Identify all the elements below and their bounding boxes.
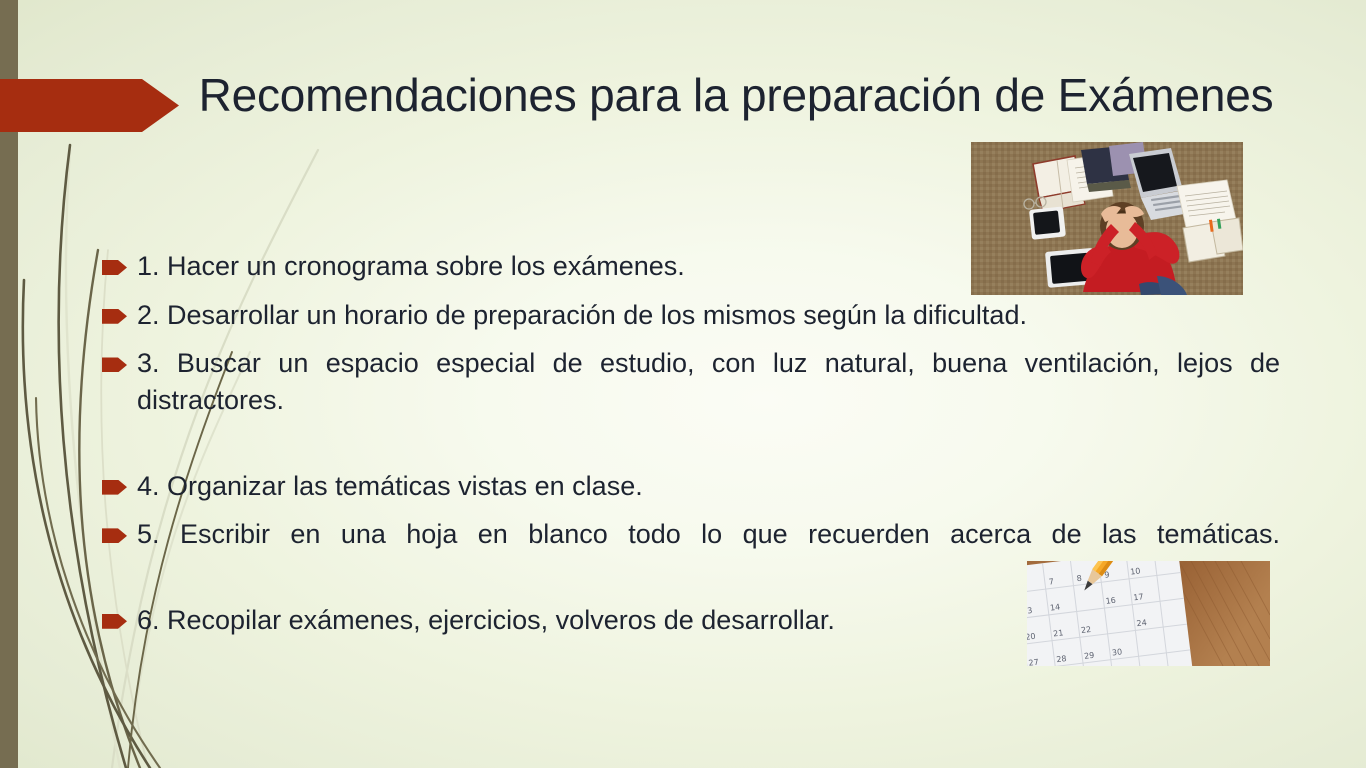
list-item-label: 4. Organizar las temáticas vistas en cla… <box>137 471 643 501</box>
arrow-bullet-icon <box>102 309 127 324</box>
list-item-label: 2. Desarrollar un horario de preparación… <box>137 300 1027 330</box>
svg-text:29: 29 <box>1084 651 1095 661</box>
svg-text:27: 27 <box>1028 658 1039 666</box>
list-item-label: 1. Hacer un cronograma sobre los exámene… <box>137 251 685 281</box>
list-item-label: 3. Buscar un espacio especial de estudio… <box>137 345 1280 455</box>
svg-text:28: 28 <box>1056 654 1067 664</box>
stressed-student-photo <box>971 142 1243 295</box>
arrow-bullet-icon <box>102 480 127 495</box>
svg-text:30: 30 <box>1111 647 1122 657</box>
arrow-bullet-icon <box>102 260 127 275</box>
svg-text:7: 7 <box>1048 577 1054 587</box>
svg-text:17: 17 <box>1133 592 1144 602</box>
slide-canvas: Recomendaciones para la preparación de E… <box>0 0 1366 768</box>
list-item: 4. Organizar las temáticas vistas en cla… <box>100 468 1280 505</box>
arrow-bullet-icon <box>102 357 127 372</box>
arrow-bullet-icon <box>102 614 127 629</box>
svg-text:24: 24 <box>1136 618 1147 628</box>
svg-text:22: 22 <box>1080 625 1091 635</box>
calendar-pencil-photo: 567 8910 121314 1617 192021 2224 262728 … <box>1027 561 1270 666</box>
svg-text:20: 20 <box>1027 632 1036 642</box>
arrow-bullet-icon <box>102 528 127 543</box>
svg-text:14: 14 <box>1050 602 1061 612</box>
svg-text:10: 10 <box>1130 566 1141 576</box>
list-item-label: 6. Recopilar exámenes, ejercicios, volve… <box>137 605 835 635</box>
slide-title: Recomendaciones para la preparación de E… <box>196 68 1276 124</box>
list-item: 3. Buscar un espacio especial de estudio… <box>100 345 1280 455</box>
svg-text:8: 8 <box>1076 574 1082 584</box>
arrow-banner <box>0 79 179 132</box>
svg-text:16: 16 <box>1105 596 1116 606</box>
svg-text:21: 21 <box>1053 628 1064 638</box>
list-item: 2. Desarrollar un horario de preparación… <box>100 297 1280 334</box>
